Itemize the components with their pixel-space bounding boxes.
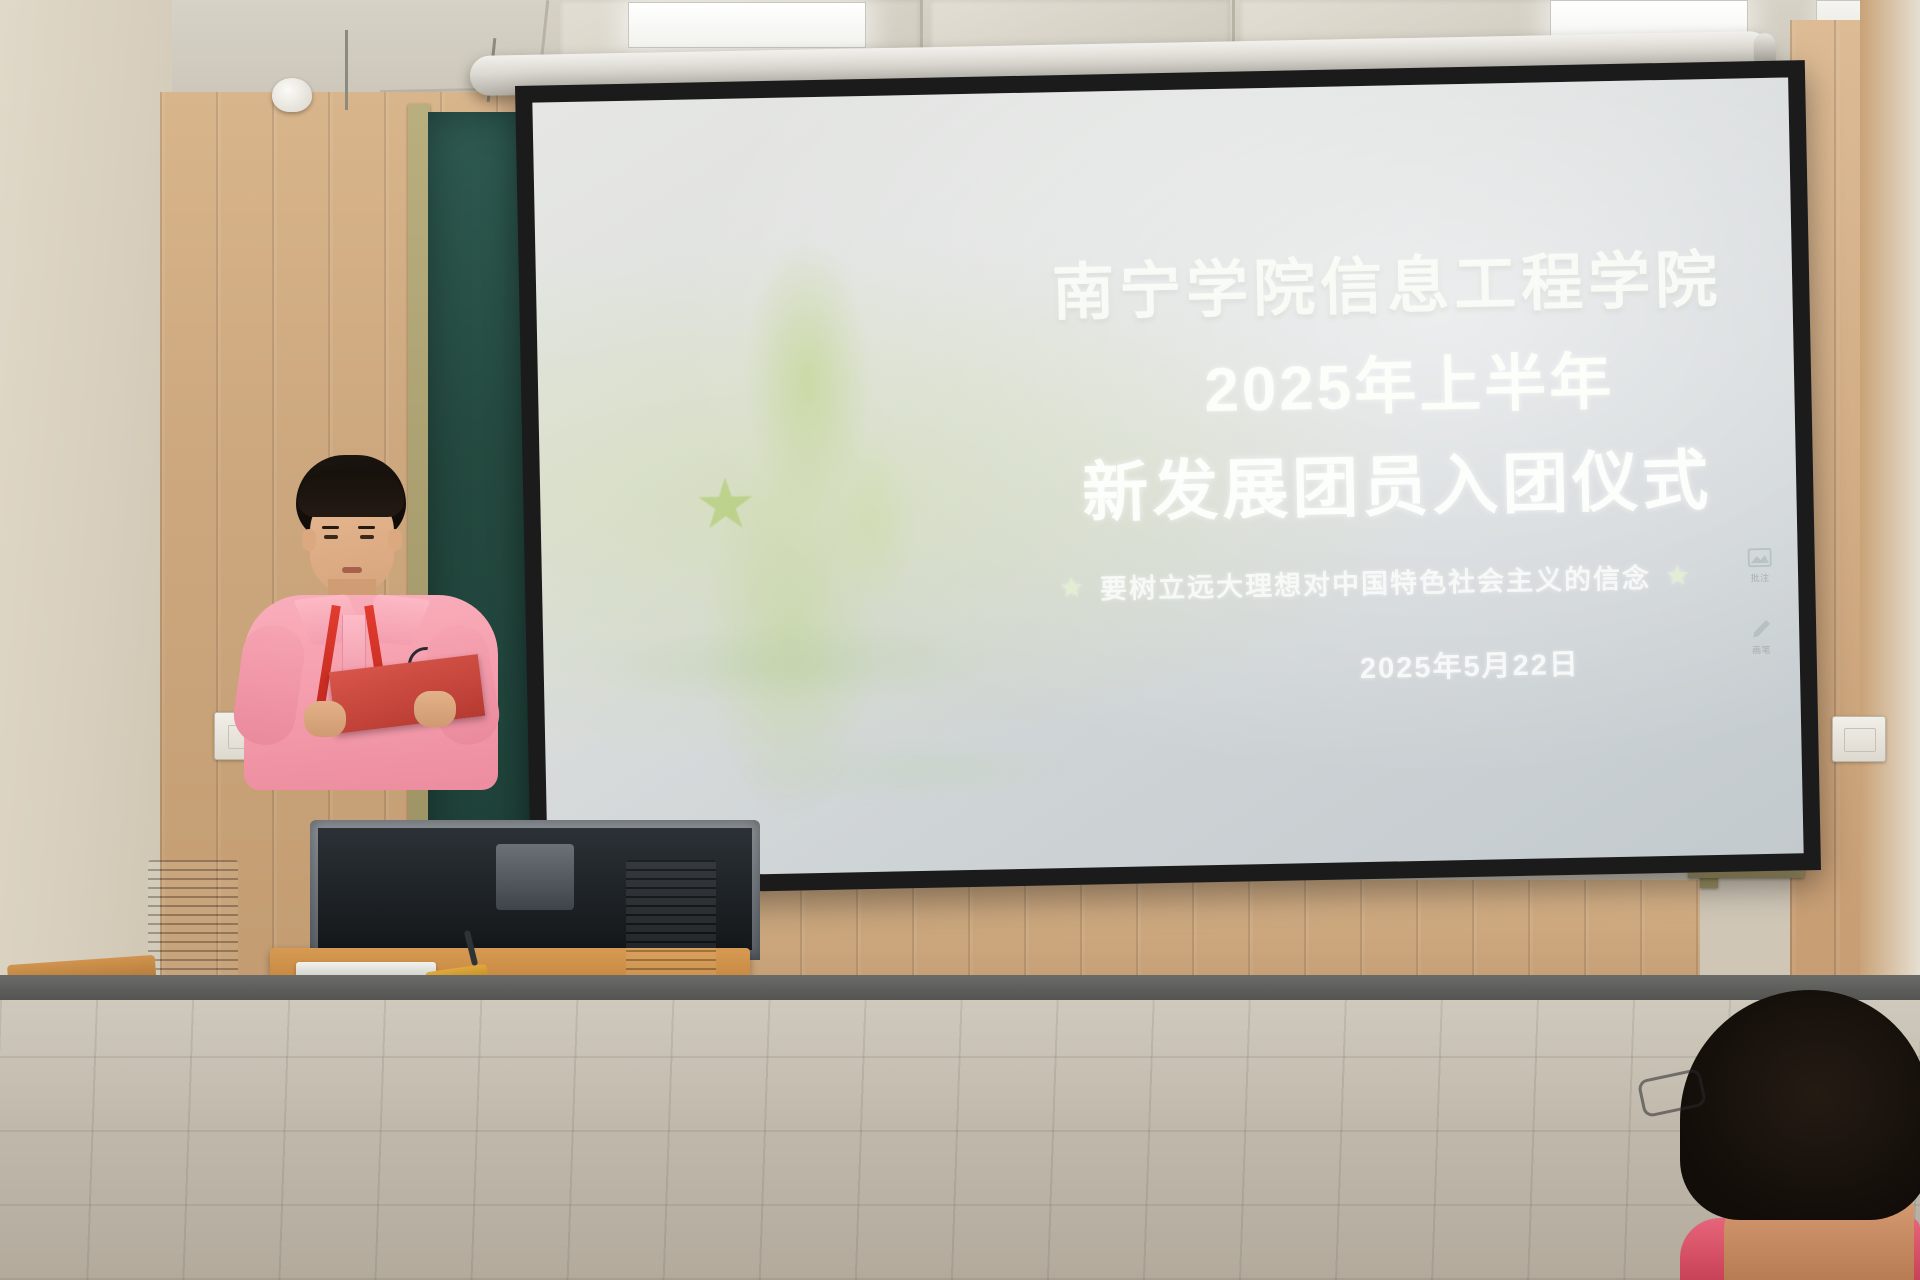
slide-subtitle-text: 要树立远大理想对中国特色社会主义的信念 [1100, 556, 1652, 606]
slide-subtitle: ★ 要树立远大理想对中国特色社会主义的信念 ★ [1059, 555, 1693, 607]
audience-member [1620, 960, 1920, 1280]
star-left-icon: ★ [1059, 571, 1087, 605]
slide-text-block: 南宁学院信息工程学院 2025年上半年 新发展团员入团仪式 ★ 要树立远大理想对… [532, 77, 1803, 878]
annotate-pencil-label: 画笔 [1752, 643, 1771, 656]
speaker-eye-right [360, 535, 374, 539]
slide-title-line3: 新发展团员入团仪式 [1081, 427, 1713, 536]
speaker-hair-front [298, 471, 404, 517]
audience-hair [1680, 990, 1920, 1220]
speaker-ear-left [302, 529, 316, 551]
ceiling-cable [345, 30, 348, 110]
ceiling-light [628, 2, 866, 48]
speaker-person: IE [236, 455, 516, 785]
annotate-image-tool[interactable]: 批注 [1748, 548, 1773, 584]
screen-tool-strip[interactable]: 批注 画笔 [1740, 548, 1782, 657]
smoke-detector-icon [272, 78, 312, 112]
pencil-icon [1750, 618, 1772, 640]
speaker-eye-left [324, 535, 338, 539]
speaker-hand-right [414, 691, 456, 727]
wall-socket-right [1832, 716, 1886, 762]
monitor-center-module [496, 844, 574, 910]
slide-date: 2025年5月22日 [1359, 641, 1580, 687]
slide-title-line1: 南宁学院信息工程学院 [1051, 229, 1723, 332]
speaker-shirt-placket [342, 615, 366, 673]
speaker-brow-left [322, 526, 339, 529]
speaker-brow-right [358, 526, 375, 529]
star-right-icon: ★ [1665, 558, 1693, 592]
speaker-hand-left [304, 701, 346, 737]
projection-screen: ★ 南宁学院信息工程学院 2025年上半年 新发展团员入团仪式 ★ 要树立远大理… [515, 60, 1821, 896]
speaker-ear-right [388, 529, 402, 551]
annotate-pencil-tool[interactable]: 画笔 [1750, 618, 1773, 656]
classroom-photo: ★ 南宁学院信息工程学院 2025年上半年 新发展团员入团仪式 ★ 要树立远大理… [0, 0, 1920, 1280]
speaker-mouth [342, 567, 362, 573]
annotate-image-label: 批注 [1750, 571, 1769, 584]
image-icon [1748, 548, 1772, 568]
projection-surface: ★ 南宁学院信息工程学院 2025年上半年 新发展团员入团仪式 ★ 要树立远大理… [532, 77, 1803, 878]
slide-title-line2: 2025年上半年 [1203, 331, 1615, 429]
